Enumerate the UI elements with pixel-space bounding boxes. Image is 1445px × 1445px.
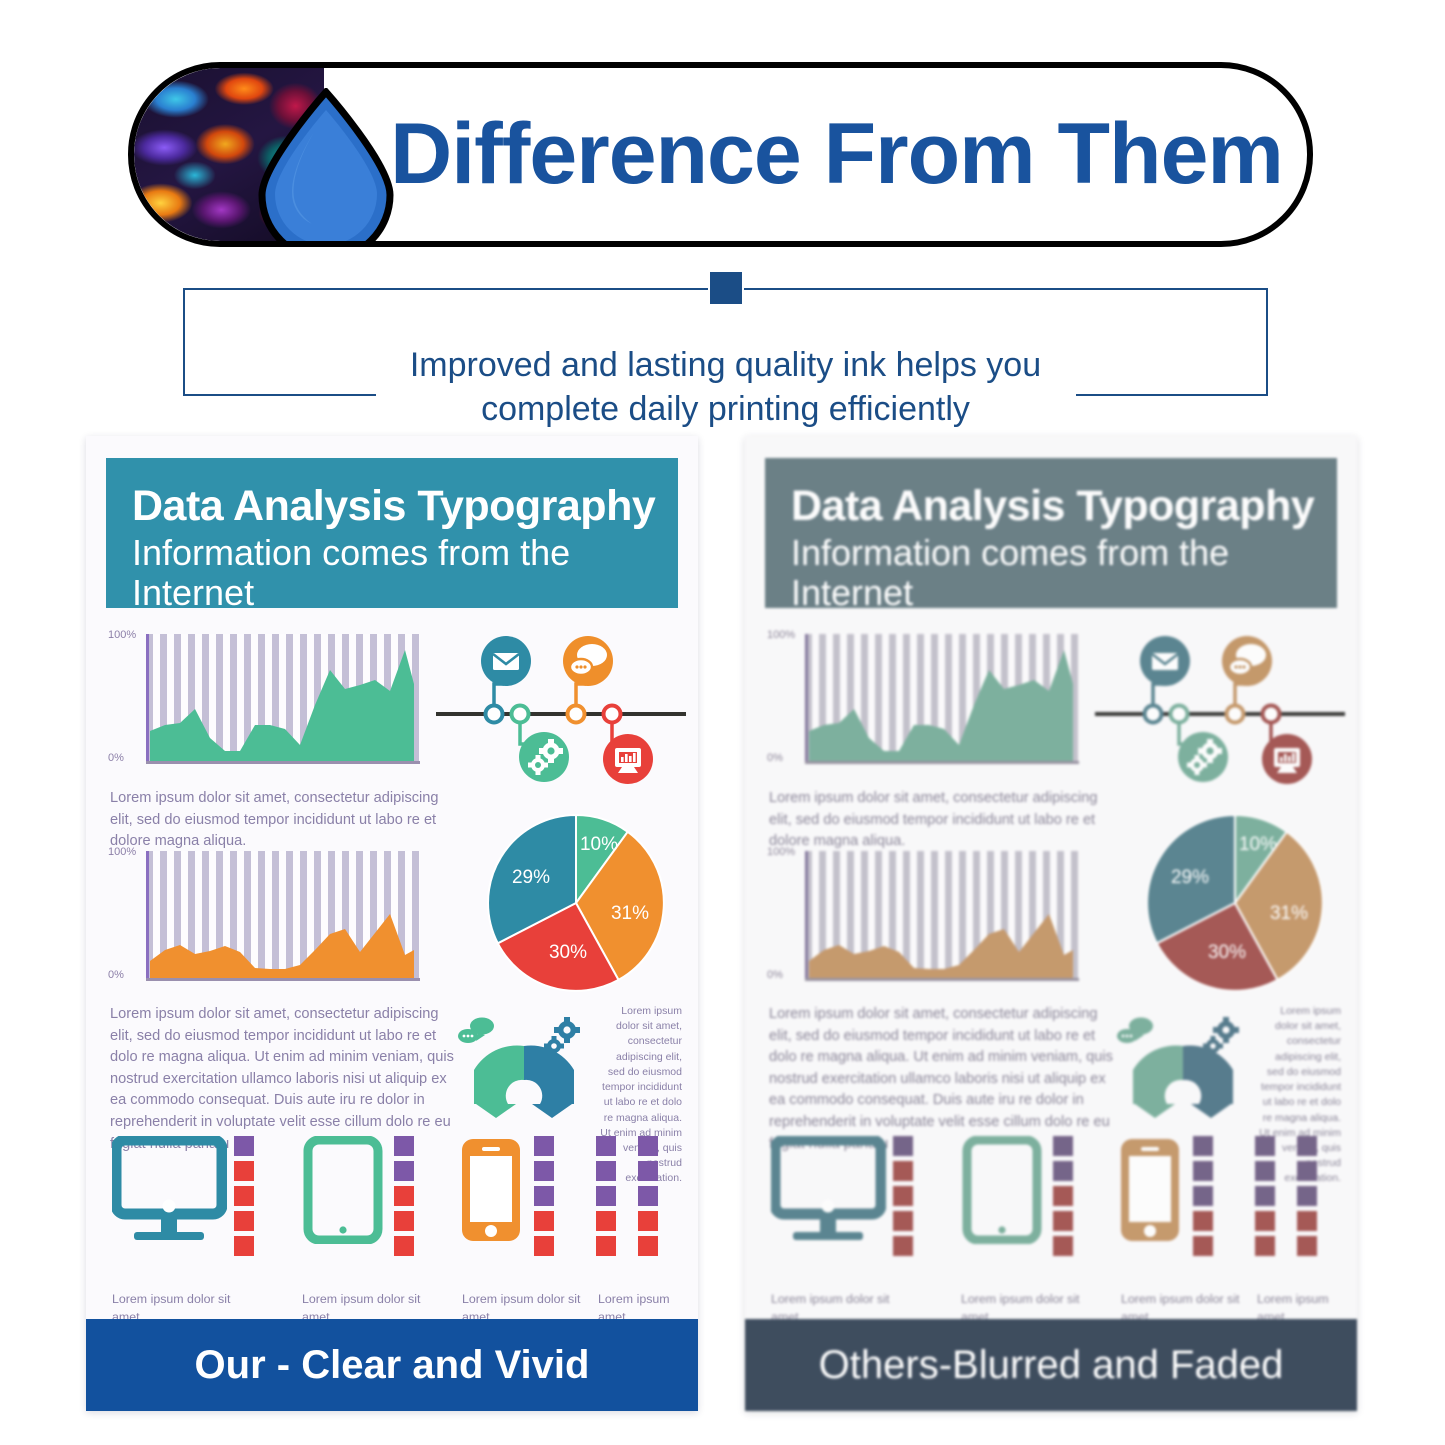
area-chart-green-svg [146, 634, 420, 764]
device-monitor-group-right [771, 1136, 886, 1249]
monitor-chart-icon [1262, 734, 1312, 784]
square-purple [1255, 1161, 1275, 1181]
axis-label-top-r: 100% [767, 629, 801, 641]
square-red [1193, 1211, 1213, 1231]
pie-label-2: 30% [549, 942, 587, 963]
paragraph-two-right: Lorem ipsum dolor sit amet, consectetur … [769, 1004, 1119, 1155]
square-red [638, 1211, 658, 1231]
monitor-icon [771, 1136, 886, 1244]
page-title: Difference From Them [384, 105, 1307, 204]
square-purple [1193, 1186, 1213, 1206]
area-chart-orange-right: 100% 0% [767, 851, 1079, 991]
square-red [234, 1236, 254, 1256]
square-purple [638, 1136, 658, 1156]
square-purple [1193, 1136, 1213, 1156]
phone-squares [534, 1136, 554, 1261]
square-purple [534, 1186, 554, 1206]
poster-title-right: Data Analysis Typography [791, 484, 1337, 529]
squares-grid-icon-col-a-right [1255, 1136, 1275, 1261]
monitor-squares [234, 1136, 254, 1261]
square-red [234, 1211, 254, 1231]
subtitle-tab-marker [710, 272, 742, 304]
tablet-icon [302, 1136, 384, 1244]
subtitle-line-1: Improved and lasting quality ink helps y… [183, 344, 1268, 388]
device-phone-group [458, 1136, 524, 1249]
square-red [1053, 1236, 1073, 1256]
monitor-chart-icon [603, 734, 653, 784]
tablet-icon [961, 1136, 1043, 1244]
area-chart-orange-svg [146, 851, 420, 981]
square-purple [534, 1161, 554, 1181]
square-red [1193, 1236, 1213, 1256]
pie-label-3: 29% [512, 867, 550, 888]
square-red [234, 1161, 254, 1181]
squares-grid-icon-col-a [596, 1136, 616, 1261]
tablet-squares [394, 1136, 414, 1261]
paragraph-one-right: Lorem ipsum dolor sit amet, consectetur … [769, 788, 1099, 853]
gauge-arch-infographic-right [1113, 1008, 1253, 1118]
svg-text:30%: 30% [1208, 942, 1246, 963]
gears-icon [519, 732, 569, 782]
gears-icon [1178, 732, 1228, 782]
square-red [394, 1236, 414, 1256]
square-purple [1053, 1136, 1073, 1156]
phone-squares-right [1193, 1136, 1213, 1261]
square-purple [596, 1136, 616, 1156]
square-purple [638, 1186, 658, 1206]
pie-label-0: 10% [580, 834, 618, 855]
square-purple [534, 1136, 554, 1156]
square-purple [1255, 1136, 1275, 1156]
axis-label-top-2r: 100% [767, 846, 801, 858]
device-phone-group-right [1117, 1136, 1183, 1249]
ink-droplet-icon [252, 88, 400, 246]
monitor-icon [112, 1136, 227, 1244]
gauge-arch-infographic [454, 1008, 594, 1118]
square-red [893, 1236, 913, 1256]
tablet-squares-right [1053, 1136, 1073, 1261]
subtitle-text: Improved and lasting quality ink helps y… [183, 344, 1268, 431]
area-chart-green-plot [146, 634, 420, 764]
chat-bubbles-icon [1222, 636, 1272, 686]
svg-text:10%: 10% [1239, 834, 1277, 855]
poster-header-left: Data Analysis Typography Information com… [106, 458, 678, 608]
square-purple [596, 1186, 616, 1206]
axis-label-top-2: 100% [108, 846, 142, 858]
square-purple [1193, 1161, 1213, 1181]
timeline-infographic [436, 626, 686, 791]
axis-label-bottom: 0% [108, 752, 142, 764]
axis-label-bottom-r: 0% [767, 752, 801, 764]
square-purple [1255, 1186, 1275, 1206]
square-purple [1297, 1161, 1317, 1181]
footer-left: Our - Clear and Vivid [86, 1319, 698, 1411]
square-purple [893, 1136, 913, 1156]
envelope-icon [481, 636, 531, 686]
pie-chart-right: 10% 31% 30% 29% [1137, 808, 1333, 998]
poster-left-clear: Data Analysis Typography Information com… [86, 436, 698, 1411]
square-red [394, 1211, 414, 1231]
svg-text:31%: 31% [1270, 903, 1308, 924]
monitor-squares-right [893, 1136, 913, 1261]
timeline-infographic-right [1095, 626, 1345, 791]
header-banner: Difference From Them [128, 62, 1313, 247]
envelope-icon [1140, 636, 1190, 686]
subtitle-frame: Improved and lasting quality ink helps y… [183, 288, 1268, 396]
chat-bubbles-icon-small [458, 1018, 494, 1044]
square-red [1297, 1236, 1317, 1256]
paragraph-one: Lorem ipsum dolor sit amet, consectetur … [110, 788, 440, 853]
logo-wrap [134, 68, 384, 241]
square-purple [394, 1136, 414, 1156]
square-purple [394, 1161, 414, 1181]
pie-chart: 10% 31% 30% 29% [478, 808, 674, 998]
square-red [1297, 1211, 1317, 1231]
square-red [596, 1236, 616, 1256]
square-red [1255, 1236, 1275, 1256]
square-red [893, 1186, 913, 1206]
square-purple [1297, 1136, 1317, 1156]
square-purple [1053, 1161, 1073, 1181]
smartphone-icon [458, 1136, 524, 1244]
square-red [394, 1186, 414, 1206]
device-icons-row [106, 1136, 682, 1286]
axis-label-top: 100% [108, 629, 142, 641]
square-red [893, 1161, 913, 1181]
poster-subtitle: Information comes from the Internet [132, 533, 678, 614]
squares-grid-icon-col-b-right [1297, 1136, 1317, 1261]
chat-bubbles-icon [563, 636, 613, 686]
area-chart-orange-plot [146, 851, 420, 981]
axis-label-bottom-2: 0% [108, 969, 142, 981]
area-chart-green: 100% 0% [108, 634, 420, 774]
square-red [534, 1236, 554, 1256]
square-red [893, 1211, 913, 1231]
square-red [1053, 1211, 1073, 1231]
square-red [1053, 1186, 1073, 1206]
square-red [234, 1186, 254, 1206]
square-purple [638, 1161, 658, 1181]
square-red [1255, 1211, 1275, 1231]
device-tablet-group-right [961, 1136, 1043, 1249]
device-icons-row-right [765, 1136, 1341, 1286]
poster-title: Data Analysis Typography [132, 484, 678, 529]
square-red [596, 1211, 616, 1231]
square-purple [234, 1136, 254, 1156]
area-chart-orange: 100% 0% [108, 851, 420, 991]
poster-header-right: Data Analysis Typography Information com… [765, 458, 1337, 608]
area-chart-orange-plot-right [805, 851, 1079, 981]
svg-text:29%: 29% [1171, 867, 1209, 888]
squares-grid-icon-col-b [638, 1136, 658, 1261]
device-tablet-group [302, 1136, 384, 1249]
square-purple [1297, 1186, 1317, 1206]
square-red [534, 1211, 554, 1231]
chat-bubbles-icon-small [1117, 1018, 1153, 1044]
device-monitor-group [112, 1136, 227, 1249]
area-chart-green-plot-right [805, 634, 1079, 764]
square-purple [596, 1161, 616, 1181]
footer-right: Others-Blurred and Faded [745, 1319, 1357, 1411]
area-chart-green-right: 100% 0% [767, 634, 1079, 774]
poster-right-blurred: Data Analysis Typography Information com… [745, 436, 1357, 1411]
pie-label-1: 31% [611, 903, 649, 924]
poster-subtitle-right: Information comes from the Internet [791, 533, 1337, 614]
paragraph-two: Lorem ipsum dolor sit amet, consectetur … [110, 1004, 460, 1155]
subtitle-line-2: complete daily printing efficiently [183, 388, 1268, 432]
smartphone-icon [1117, 1136, 1183, 1244]
axis-label-bottom-2r: 0% [767, 969, 801, 981]
square-red [638, 1236, 658, 1256]
